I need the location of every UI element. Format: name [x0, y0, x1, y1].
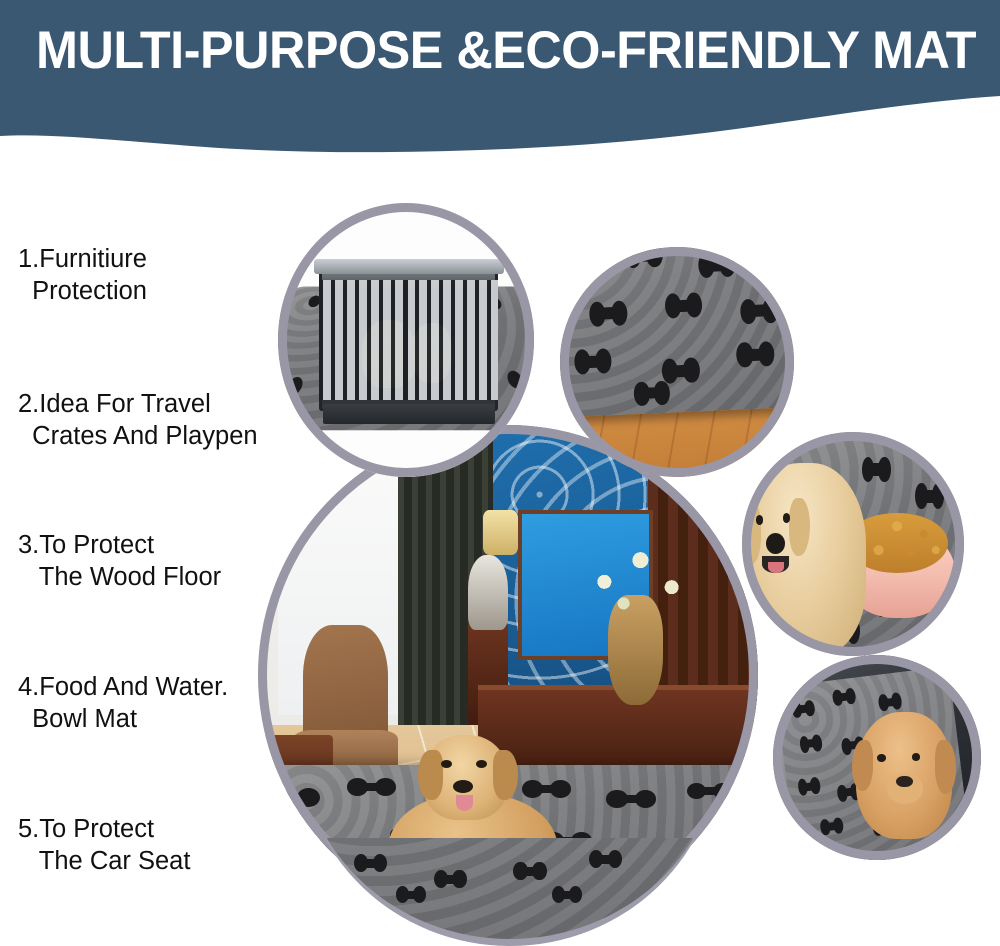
dog-body [388, 795, 558, 925]
feature-line-2a: 2.Idea For Travel [18, 388, 258, 420]
feature-item-food-bowl-mat: 4.Food And Water. Bowl Mat [18, 671, 228, 735]
puppy-eye-right [912, 753, 921, 761]
bone-icon [635, 847, 669, 855]
flower-arrangement [578, 535, 698, 625]
page-title: MULTI-PURPOSE &ECO-FRIENDLY MAT [36, 21, 929, 81]
bone-icon [709, 833, 741, 841]
pet-mat-under-bowl [742, 432, 964, 656]
bone-icon [401, 891, 422, 899]
photo-wood-floor [560, 247, 794, 477]
feature-item-furniture-protection: 1.Furnitiure Protection [18, 243, 147, 307]
wooden-floor [560, 247, 794, 477]
bone-icon [639, 388, 664, 400]
bone-icon [656, 897, 688, 905]
bone-icon [497, 921, 531, 925]
bone-icon [595, 307, 622, 320]
bone-icon [614, 795, 648, 803]
bone-icon [360, 893, 394, 901]
bone-icon [836, 692, 853, 702]
wood-column [648, 425, 758, 735]
bone-icon [803, 738, 820, 748]
bone-icon [667, 365, 694, 378]
pet-mat-on-car-seat [775, 666, 970, 860]
header-banner: MULTI-PURPOSE &ECO-FRIENDLY MAT [0, 0, 1000, 160]
bone-icon [877, 822, 894, 832]
bone-icon [556, 891, 577, 899]
bone-icon [924, 805, 941, 815]
dog-ear-left [742, 502, 761, 564]
bone-icon [278, 382, 298, 391]
dog-ear-left [418, 750, 443, 800]
dog-tongue [768, 562, 783, 574]
wall [258, 425, 758, 925]
feature-item-travel-crates: 2.Idea For Travel Crates And Playpen [18, 388, 258, 452]
photo-food-bowl [742, 432, 964, 656]
living-room-scene [258, 425, 758, 925]
bone-icon [920, 490, 940, 502]
crate-bars [319, 280, 498, 400]
pedestal [468, 625, 508, 735]
dog-ear-right [789, 498, 810, 556]
bone-icon [866, 463, 886, 475]
wall-lamp [483, 510, 518, 555]
bone-icon [795, 704, 812, 714]
damask-wallpaper [478, 425, 758, 715]
bone-icon [670, 300, 697, 313]
pet-mat-on-wood [560, 247, 794, 419]
kibble [846, 513, 948, 573]
bone-icon [397, 831, 429, 839]
pet-mat-overflow-shape [300, 838, 720, 946]
bone-icon [630, 249, 657, 262]
car-seat [773, 721, 898, 860]
bone-icon [478, 301, 498, 307]
bone-icon [594, 855, 617, 864]
bone-icon [902, 772, 919, 782]
feature-item-car-seat: 5.To Protect The Car Seat [18, 813, 190, 877]
dog-head [423, 735, 508, 820]
feature-line-3b: The Wood Floor [18, 561, 221, 593]
crate-divider [403, 280, 408, 400]
dog-tongue [456, 795, 473, 811]
car-interior [773, 655, 981, 860]
dog-eye-left [441, 760, 452, 768]
ring-wood-floor [560, 247, 794, 477]
bone-icon [512, 376, 534, 384]
pink-food-bowl [844, 526, 955, 618]
bone-icon [579, 355, 606, 368]
dog-nose [453, 780, 473, 793]
bone-icon [846, 740, 863, 750]
feature-line-2b: Crates And Playpen [18, 420, 258, 452]
bone-icon [323, 843, 357, 851]
coffee-table [258, 735, 333, 805]
bone-icon [434, 791, 466, 799]
armchair-seat [293, 730, 398, 780]
bone-icon [841, 787, 858, 797]
bone-icon [439, 875, 462, 884]
bone-icon [392, 294, 411, 299]
tile-floor [258, 725, 758, 925]
photo-living-room [258, 425, 758, 925]
feature-line-5b: The Car Seat [18, 845, 190, 877]
car-seat-scene [773, 655, 981, 860]
bone-icon [742, 348, 769, 361]
bone-icon [694, 787, 726, 795]
feature-line-4b: Bowl Mat [18, 703, 228, 735]
dog-eye-left [756, 515, 764, 525]
bone-icon [354, 783, 388, 791]
bone-icon [933, 571, 953, 583]
puppy-nose [896, 776, 912, 787]
crate-tray [323, 404, 495, 424]
feature-line-1b: Protection [18, 275, 147, 307]
dog-in-crate-rear [412, 323, 451, 383]
pet-mat-under-crate [278, 287, 534, 431]
armchair [303, 625, 388, 775]
food-bowl-scene [742, 432, 964, 656]
bone-icon [529, 785, 563, 793]
bone-icon [801, 781, 818, 791]
bone-icon [285, 881, 322, 890]
ring-car-seat [773, 655, 981, 860]
puppy-eye-left [877, 754, 886, 762]
bone-icon [835, 625, 855, 637]
puppy [856, 712, 952, 839]
wood-floor-scene [560, 247, 794, 477]
feature-line-5a: 5.To Protect [18, 813, 190, 845]
bone-icon [258, 833, 291, 842]
bone-icon [880, 598, 900, 610]
dog-eye-right [476, 760, 487, 768]
feature-line-4a: 4.Food And Water. [18, 671, 228, 703]
bone-icon [400, 396, 424, 405]
bone-icon [275, 793, 312, 802]
bone-icon [766, 247, 791, 256]
curtain [398, 425, 493, 745]
feature-line-3a: 3.To Protect [18, 529, 221, 561]
bone-icon [359, 859, 382, 868]
backdrop [278, 203, 534, 477]
dog-nose [766, 533, 785, 554]
bone-icon [518, 867, 541, 876]
pet-mat-large [258, 765, 758, 925]
dog-mouth [762, 556, 789, 573]
bone-icon [746, 305, 773, 318]
bone-icon [311, 299, 331, 304]
golden-retriever [742, 463, 866, 656]
blue-rug [258, 790, 328, 850]
crate-roof [314, 259, 504, 275]
dog-ear-right [493, 750, 518, 800]
bone-icon [824, 821, 841, 831]
puppy-ear-left [852, 740, 873, 791]
ring-food-bowl [742, 432, 964, 656]
window [278, 435, 428, 715]
ring-living-room [258, 425, 758, 925]
photo-car-seat [773, 655, 981, 860]
dog-in-crate [362, 320, 416, 388]
crate-scene [278, 203, 534, 477]
puppy-muzzle [887, 773, 923, 804]
ring-dog-crate [278, 203, 534, 477]
puppy-ear-right [935, 740, 956, 793]
bust-sculpture [468, 555, 508, 630]
pet-mat-overflow [300, 838, 720, 946]
sideboard-cabinet [478, 685, 758, 800]
feature-line-1a: 1.Furnitiure [18, 243, 147, 275]
television [518, 510, 653, 660]
bone-icon [564, 265, 591, 278]
vase [608, 595, 663, 705]
bone-icon [703, 259, 730, 272]
bone-icon [550, 837, 584, 845]
bone-icon [572, 885, 606, 893]
dog-crate [319, 269, 498, 411]
dog-eye-right [783, 513, 791, 523]
feature-item-wood-floor: 3.To Protect The Wood Floor [18, 529, 221, 593]
bone-icon [908, 729, 925, 739]
bone-icon [882, 697, 899, 707]
photo-dog-crate [278, 203, 534, 477]
